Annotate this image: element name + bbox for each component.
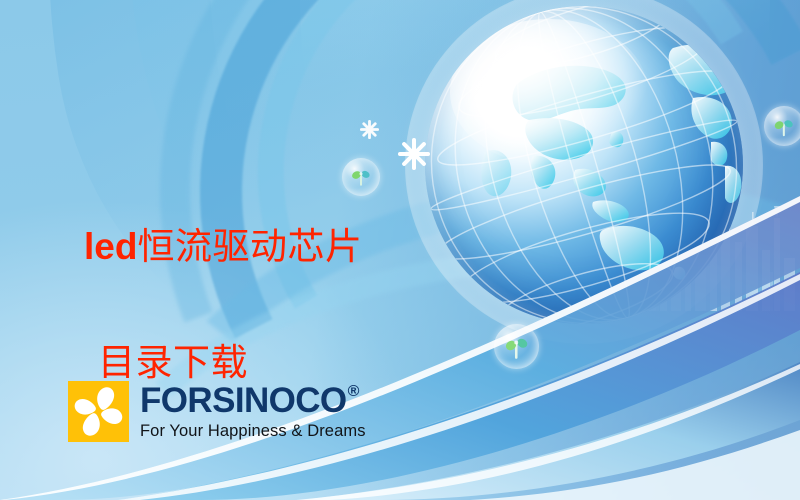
promo-banner: led恒流驱动芯片 目录下载 FORSINOCO ® For Your Happ… [0,0,800,500]
logo-company-name: FORSINOCO ® [140,383,366,418]
bubble-sprout-lower [494,324,539,369]
logo-tagline: For Your Happiness & Dreams [140,423,366,440]
logo-wordmark: FORSINOCO ® For Your Happiness & Dreams [140,383,366,440]
world-globe [425,6,743,324]
headline-line-1: led恒流驱动芯片 [84,218,362,276]
logo-company-name-text: FORSINOCO [140,383,347,418]
sprout-icon [502,332,532,362]
globe-continents-and-grid [425,6,743,324]
sprout-icon [771,113,798,140]
headline-line-1-rest: 恒流驱动芯片 [137,225,362,268]
globe-sphere [425,6,743,324]
four-petal-flower-icon [68,381,129,442]
bubble-sprout-right [764,106,800,146]
company-logo[interactable]: FORSINOCO ® For Your Happiness & Dreams [68,381,366,442]
registered-trademark-icon: ® [348,384,359,400]
headline-lead-led: led [84,226,137,267]
